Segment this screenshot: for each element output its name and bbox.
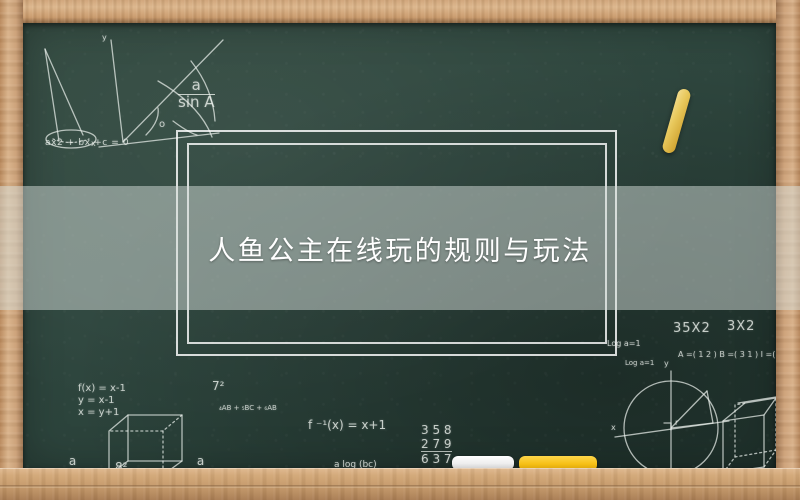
- frame-top-rail: [0, 0, 800, 23]
- chalk-law-of-sines-mid: asin A: [186, 455, 215, 468]
- cube-drawing-left: [109, 415, 182, 468]
- chalk-division-line-1: 3 5 8: [421, 423, 452, 437]
- chalk-log-bc: a log (bc): [334, 460, 377, 468]
- chalk-log-a-equals-one-2: Log a=1: [607, 339, 641, 348]
- chalk-axis-x-right: x: [611, 423, 616, 432]
- chalk-matrix-expression: A =( 1 2 ) B =( 3 1 ) I =( 1 0 ): [678, 350, 776, 359]
- chalk-angle-label: o: [159, 119, 165, 130]
- page-title: 人鱼公主在线玩的规则与玩法: [0, 186, 800, 310]
- chalk-law-of-sines-bottom-left: asin A: [58, 455, 87, 468]
- chalk-eight-squared: 8²: [115, 460, 127, 468]
- chalk-quadratic-equation: ax2 + bx +c = 0: [45, 138, 129, 148]
- circle-radius-drawing: [615, 371, 729, 468]
- chalk-axis-y-right: y: [664, 359, 669, 368]
- chalk-fn-line-2: y = x-1: [78, 395, 126, 407]
- chalk-long-division: 3 5 8 2 7 9 6 3 7: [421, 423, 452, 466]
- chalk-fn-line-1: f(x) = x-1: [78, 383, 126, 395]
- chalk-multiplication-35x2: 35X2: [673, 321, 711, 336]
- chalk-law-of-sines-left: asin A: [178, 78, 215, 111]
- ledge-lip: [0, 485, 800, 488]
- cone-drawing: [45, 49, 96, 148]
- chalkboard-banner: asin A ax2 + bx +c = 0 y x o f(x) = x-1 …: [0, 0, 800, 500]
- angle-axes-drawing: [99, 40, 223, 147]
- chalk-axis-x-label: x: [91, 139, 96, 148]
- chalk-fn-line-3: x = y+1: [78, 407, 126, 419]
- chalk-multiplication-3x2: 3X2: [727, 319, 755, 334]
- chalk-division-line-3: 6 3 7: [421, 452, 452, 466]
- chalk-axis-y-label: y: [102, 33, 107, 42]
- cube-drawing-right: [723, 397, 776, 468]
- chalk-inverse-function: f ⁻¹(x) = x+1: [308, 418, 386, 432]
- chalk-function-block: f(x) = x-1 y = x-1 x = y+1: [78, 383, 126, 419]
- chalk-mid-expression: ₄AB + ₅BC + ₆AB: [219, 404, 277, 412]
- chalk-division-line-2: 2 7 9: [421, 437, 452, 452]
- chalk-ledge: [0, 468, 800, 500]
- chalk-power-seven: 7²: [212, 379, 224, 393]
- chalk-log-a-equals-one: Log a=1: [625, 359, 654, 367]
- chalk-radius-label: r: [675, 418, 678, 427]
